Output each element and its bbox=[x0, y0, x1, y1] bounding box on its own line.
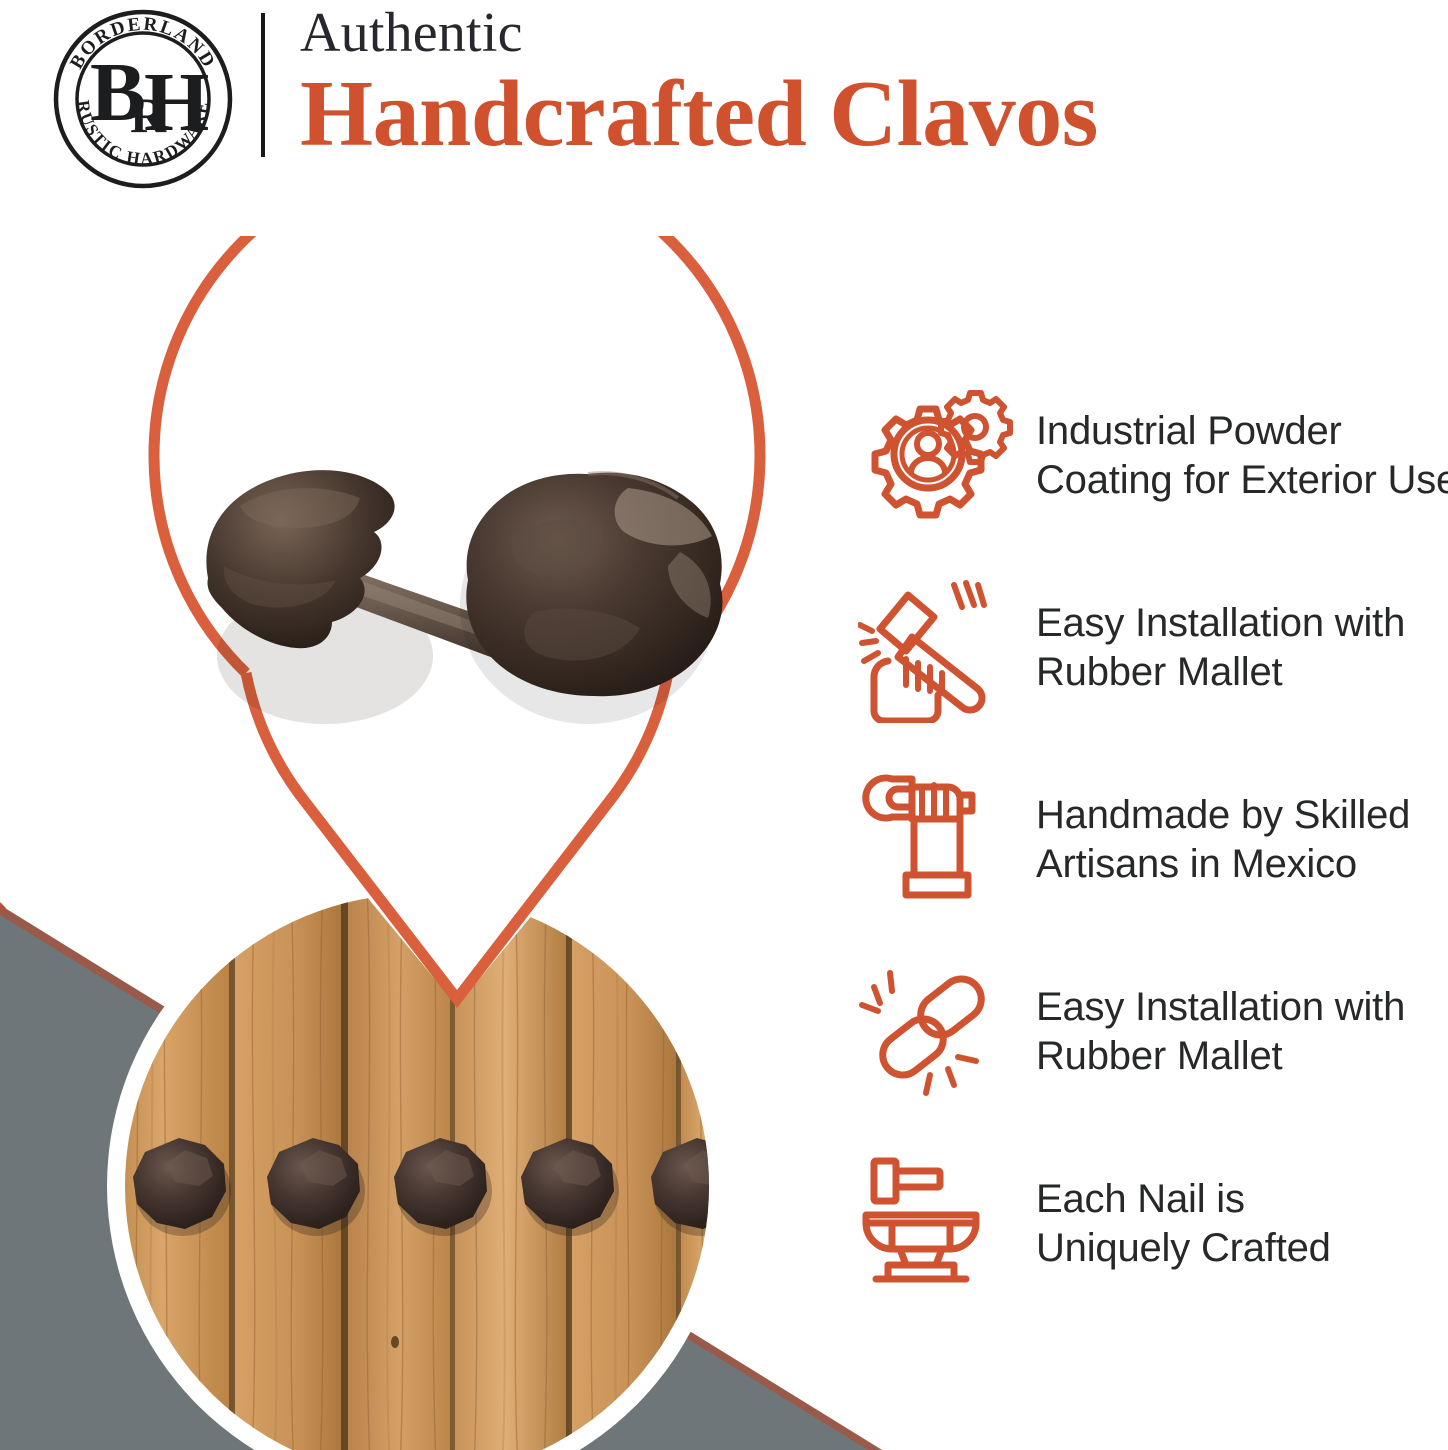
page-header: BORDERLAND RUSTIC HARDWARE B R H Authent… bbox=[0, 0, 1448, 196]
logo-monogram: B R H bbox=[90, 46, 209, 149]
header-divider bbox=[261, 13, 265, 157]
feature-row-uniquely-crafted: Each Nail is Uniquely Crafted bbox=[852, 1128, 1448, 1320]
title-line-handcrafted-clavos: Handcrafted Clavos bbox=[300, 66, 1400, 162]
feature-label-uniquely-crafted: Each Nail is Uniquely Crafted bbox=[1024, 1175, 1331, 1273]
feature-list: Industrial Powder Coating for Exterior U… bbox=[852, 360, 1448, 1320]
feature-text-line2: Artisans in Mexico bbox=[1036, 840, 1410, 889]
feature-text-line1: Easy Installation with bbox=[1036, 599, 1405, 648]
feature-text-line1: Each Nail is bbox=[1036, 1175, 1331, 1224]
feature-row-handmade: Handmade by Skilled Artisans in Mexico bbox=[852, 744, 1448, 936]
chain-link-durable-icon bbox=[852, 952, 1024, 1112]
feature-label-durable-link: Easy Installation with Rubber Mallet bbox=[1024, 983, 1405, 1081]
map-pin-teardrop-outline bbox=[120, 236, 820, 1036]
feature-row-easy-installation: Easy Installation with Rubber Mallet bbox=[852, 552, 1448, 744]
hand-mallet-installation-icon bbox=[852, 568, 1024, 728]
feature-label-handmade: Handmade by Skilled Artisans in Mexico bbox=[1024, 791, 1410, 889]
feature-row-powder-coating: Industrial Powder Coating for Exterior U… bbox=[852, 360, 1448, 552]
feature-label-powder-coating: Industrial Powder Coating for Exterior U… bbox=[1024, 407, 1448, 505]
title-line-authentic: Authentic bbox=[300, 2, 1400, 64]
svg-text:H: H bbox=[144, 56, 209, 149]
infographic-canvas: BORDERLAND RUSTIC HARDWARE B R H Authent… bbox=[0, 0, 1448, 1450]
feature-text-line2: Uniquely Crafted bbox=[1036, 1224, 1331, 1273]
feature-text-line2: Rubber Mallet bbox=[1036, 648, 1405, 697]
anvil-hammer-crafted-icon bbox=[852, 1144, 1024, 1304]
feature-text-line2: Rubber Mallet bbox=[1036, 1032, 1405, 1081]
product-visual-column bbox=[0, 196, 840, 1450]
fist-wrench-handmade-icon bbox=[852, 760, 1024, 920]
feature-text-line1: Handmade by Skilled bbox=[1036, 791, 1410, 840]
feature-label-easy-installation: Easy Installation with Rubber Mallet bbox=[1024, 599, 1405, 697]
gear-person-powder-coating-icon bbox=[852, 376, 1024, 536]
page-title: Authentic Handcrafted Clavos bbox=[300, 2, 1400, 162]
feature-row-durable-link: Easy Installation with Rubber Mallet bbox=[852, 936, 1448, 1128]
feature-text-line1: Industrial Powder bbox=[1036, 407, 1448, 456]
feature-text-line2: Coating for Exterior Use bbox=[1036, 456, 1448, 505]
feature-text-line1: Easy Installation with bbox=[1036, 983, 1405, 1032]
brh-circular-badge-logo: BORDERLAND RUSTIC HARDWARE B R H bbox=[52, 8, 234, 190]
